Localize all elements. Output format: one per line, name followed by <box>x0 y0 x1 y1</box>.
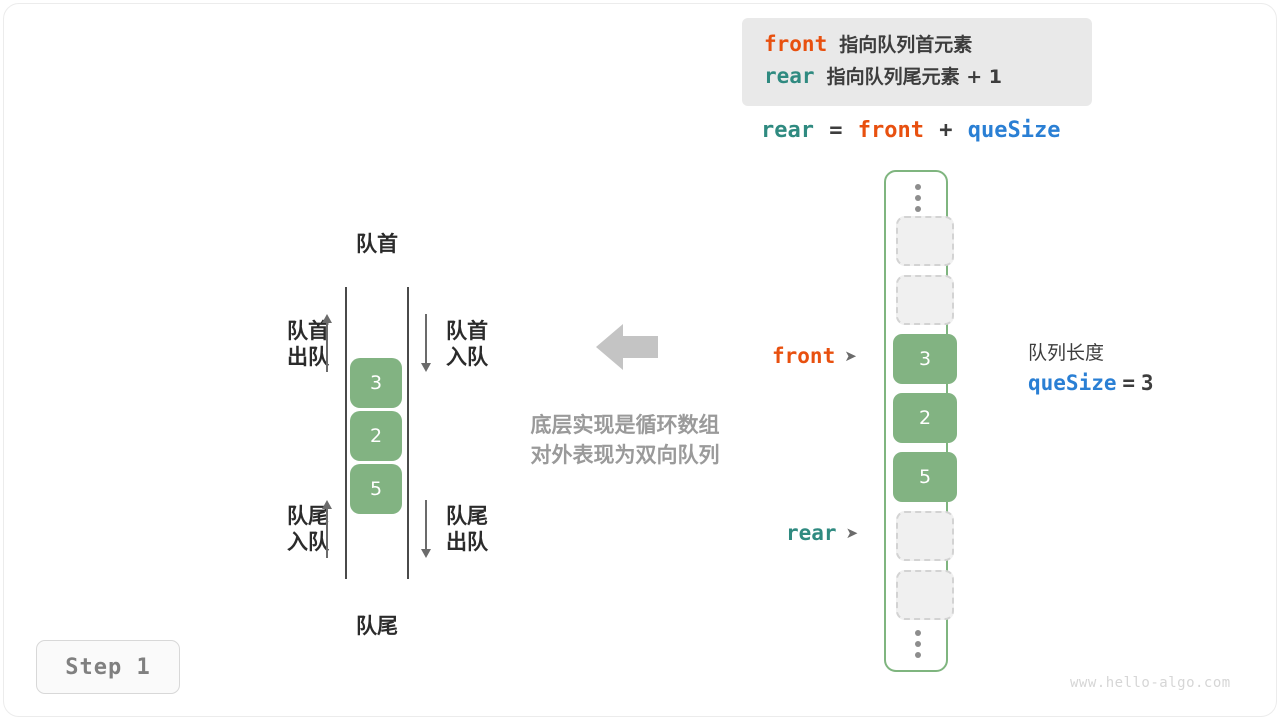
deque-op-tail-dequeue: 队尾 出队 <box>446 503 488 556</box>
array-cell-0[interactable] <box>896 216 954 266</box>
deque-cell-1[interactable]: 2 <box>350 411 402 461</box>
deque-op-tail-dequeue-text: 队尾 出队 <box>446 504 488 554</box>
deque-head-label: 队首 <box>317 228 437 258</box>
array-cell-3-value: 2 <box>919 407 931 429</box>
legend-line-front: front 指向队列首元素 <box>764 30 1092 62</box>
pointer-rear-arrowhead-icon: ➤ <box>846 526 859 541</box>
deque-tube: 3 2 5 <box>345 287 409 579</box>
formula-token-plus: + <box>939 118 952 143</box>
deque-tail-label: 队尾 <box>317 610 437 640</box>
pointer-front-arrowhead-icon: ➤ <box>844 349 857 364</box>
quesize-note-title: 队列长度 <box>1028 338 1154 365</box>
legend-desc-front: 指向队列首元素 <box>839 30 972 57</box>
deque-cell-1-value: 2 <box>370 425 382 447</box>
step-badge-label: Step 1 <box>65 655 150 680</box>
array-cell-3[interactable]: 2 <box>893 393 957 443</box>
formula-token-equals: = <box>829 118 842 143</box>
deque-op-head-enqueue: 队首 入队 <box>446 318 488 371</box>
pointer-front: front ➤ <box>772 344 857 368</box>
arrow-head-dequeue-icon <box>320 314 334 372</box>
array-cell-1[interactable] <box>896 275 954 325</box>
array-cell-4-value: 5 <box>919 466 931 488</box>
legend-keyword-rear: rear <box>764 64 815 88</box>
step-badge: Step 1 <box>36 640 180 694</box>
formula-token-rear: rear <box>761 118 814 143</box>
diagram-canvas: front 指向队列首元素 rear 指向队列尾元素 + 1 rear = fr… <box>0 0 1280 720</box>
diagram-caption: 底层实现是循环数组 对外表现为双向队列 <box>500 410 750 471</box>
pointer-rear: rear ➤ <box>786 521 858 545</box>
legend-desc-rear: 指向队列尾元素 + 1 <box>827 62 1002 89</box>
circular-array-container: 3 2 5 <box>884 170 948 672</box>
deque-op-tail-enqueue: 队尾 入队 <box>243 503 329 556</box>
deque-op-head-enqueue-text: 队首 入队 <box>446 319 488 369</box>
deque-cell-2[interactable]: 5 <box>350 464 402 514</box>
formula-token-front: front <box>858 118 924 143</box>
quesize-variable: queSize <box>1028 371 1117 395</box>
deque-tube-right-wall <box>407 287 409 579</box>
array-bottom-ellipsis-icon <box>886 626 950 662</box>
deque-cell-0-value: 3 <box>370 372 382 394</box>
pointer-legend-box: front 指向队列首元素 rear 指向队列尾元素 + 1 <box>742 18 1092 106</box>
array-cell-4[interactable]: 5 <box>893 452 957 502</box>
quesize-note: 队列长度 queSize = 3 <box>1028 338 1154 396</box>
arrow-tail-dequeue-icon <box>419 500 433 558</box>
pointer-front-label: front <box>772 344 835 368</box>
formula-token-quesize: queSize <box>968 118 1061 143</box>
deque-tube-left-wall <box>345 287 347 579</box>
legend-line-rear: rear 指向队列尾元素 + 1 <box>764 62 1092 94</box>
array-cell-2[interactable]: 3 <box>893 334 957 384</box>
pointer-rear-label: rear <box>786 521 837 545</box>
array-cell-5[interactable] <box>896 511 954 561</box>
array-top-ellipsis-icon <box>886 180 950 216</box>
deque-cell-2-value: 5 <box>370 478 382 500</box>
formula-rear-equals-front-plus-quesize: rear = front + queSize <box>760 118 1061 143</box>
quesize-value: 3 <box>1141 371 1154 395</box>
deque-op-head-dequeue: 队首 出队 <box>243 318 329 371</box>
big-left-arrow-icon <box>596 322 658 372</box>
arrow-tail-enqueue-icon <box>320 500 334 558</box>
quesize-note-expression: queSize = 3 <box>1028 371 1154 396</box>
deque-cell-0[interactable]: 3 <box>350 358 402 408</box>
arrow-head-enqueue-icon <box>419 314 433 372</box>
diagram-caption-line1: 底层实现是循环数组 <box>500 410 750 440</box>
array-cell-2-value: 3 <box>919 348 931 370</box>
quesize-equals: = <box>1122 371 1135 395</box>
legend-keyword-front: front <box>764 32 827 56</box>
diagram-caption-line2: 对外表现为双向队列 <box>500 440 750 470</box>
watermark: www.hello-algo.com <box>1070 675 1231 691</box>
array-cell-6[interactable] <box>896 570 954 620</box>
